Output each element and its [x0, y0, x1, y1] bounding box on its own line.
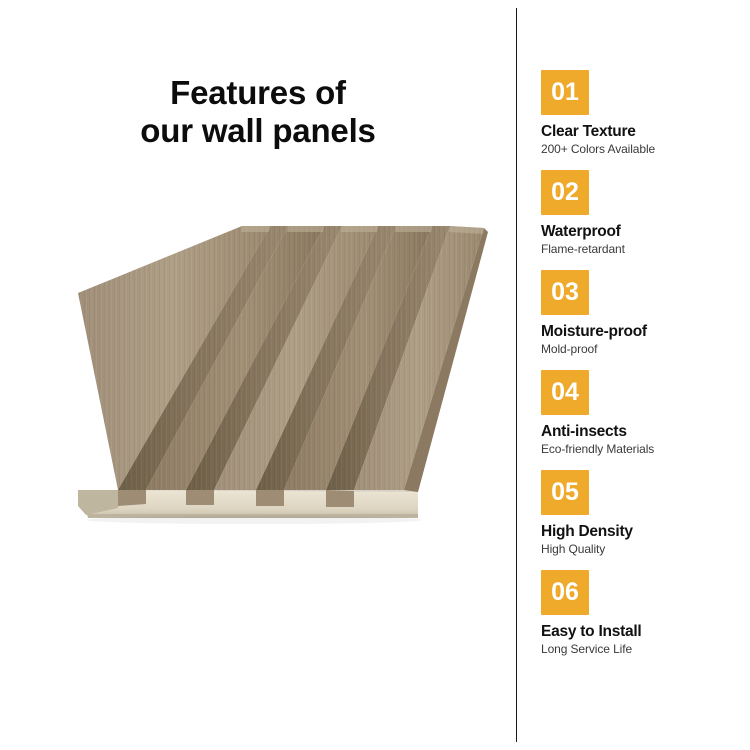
- page-title: Features of our wall panels: [0, 74, 516, 150]
- page-title-line-2: our wall panels: [0, 112, 516, 150]
- feature-item-5: 05 High Density High Quality: [541, 470, 746, 570]
- feature-subtitle-3: Mold-proof: [541, 343, 746, 356]
- vertical-divider: [516, 8, 517, 742]
- feature-item-6: 06 Easy to Install Long Service Life: [541, 570, 746, 670]
- feature-subtitle-1: 200+ Colors Available: [541, 143, 746, 156]
- feature-number-2: 02: [551, 180, 579, 206]
- feature-title-5: High Density: [541, 524, 746, 540]
- feature-number-3: 03: [551, 280, 579, 306]
- feature-item-4: 04 Anti-insects Eco-friendly Materials: [541, 370, 746, 470]
- feature-title-2: Waterproof: [541, 224, 746, 240]
- feature-subtitle-4: Eco-friendly Materials: [541, 443, 746, 456]
- panel-core-edge: [78, 490, 418, 518]
- feature-badge-3: 03: [541, 270, 589, 315]
- fluted-panel-illustration: [74, 218, 492, 524]
- feature-subtitle-6: Long Service Life: [541, 643, 746, 656]
- feature-item-3: 03 Moisture-proof Mold-proof: [541, 270, 746, 370]
- feature-badge-6: 06: [541, 570, 589, 615]
- page-title-line-1: Features of: [0, 74, 516, 112]
- feature-number-4: 04: [551, 380, 579, 406]
- infographic-canvas: Features of our wall panels: [0, 0, 750, 750]
- product-image-fluted-wall-panel: [74, 218, 492, 524]
- left-pane: Features of our wall panels: [0, 0, 516, 750]
- feature-badge-1: 01: [541, 70, 589, 115]
- feature-item-2: 02 Waterproof Flame-retardant: [541, 170, 746, 270]
- feature-item-1: 01 Clear Texture 200+ Colors Available: [541, 70, 746, 170]
- feature-number-6: 06: [551, 580, 579, 606]
- feature-number-1: 01: [551, 80, 579, 106]
- feature-list: 01 Clear Texture 200+ Colors Available 0…: [541, 70, 746, 670]
- feature-subtitle-2: Flame-retardant: [541, 243, 746, 256]
- feature-title-3: Moisture-proof: [541, 324, 746, 340]
- feature-title-1: Clear Texture: [541, 124, 746, 140]
- feature-title-6: Easy to Install: [541, 624, 746, 640]
- feature-number-5: 05: [551, 480, 579, 506]
- feature-subtitle-5: High Quality: [541, 543, 746, 556]
- panel-body: [78, 226, 488, 524]
- feature-title-4: Anti-insects: [541, 424, 746, 440]
- feature-badge-4: 04: [541, 370, 589, 415]
- feature-badge-2: 02: [541, 170, 589, 215]
- feature-badge-5: 05: [541, 470, 589, 515]
